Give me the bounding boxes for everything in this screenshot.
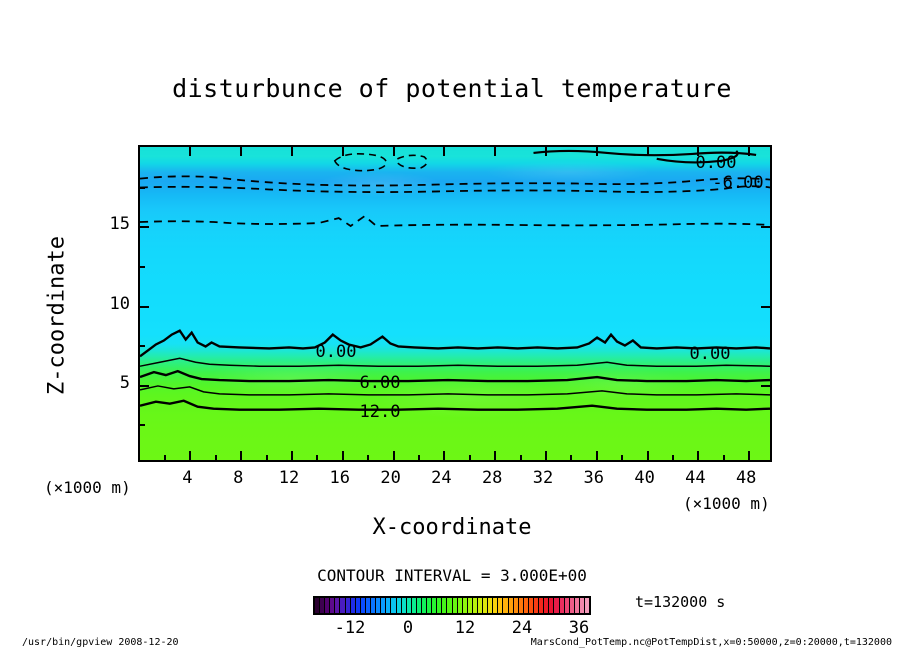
- ytick-minor-17-5: [140, 187, 145, 189]
- contour-solid-12: [140, 401, 770, 410]
- contour-solid-0: [140, 331, 770, 357]
- ytick-right-5: [761, 385, 770, 387]
- xtick-top-28: [494, 147, 496, 156]
- xtick-minor-10: [266, 455, 268, 460]
- time-annotation: t=132000 s: [635, 593, 725, 611]
- xtick-minor-30: [520, 455, 522, 460]
- ytick-minor-2-5: [140, 424, 145, 426]
- xtick-minor-42: [672, 455, 674, 460]
- xtick-label-20: 20: [380, 468, 400, 488]
- contour-label-neg6-top: -6.00: [712, 173, 763, 193]
- ytick-label-10: 10: [110, 294, 130, 314]
- xtick-top-36: [596, 147, 598, 156]
- ytick-minor-12-5: [140, 266, 145, 268]
- ytick-label-15: 15: [110, 214, 130, 234]
- colorbar-tick-24: 24: [512, 618, 532, 638]
- footer-dataset-info: MarsCond_PotTemp.nc@PotTempDist,x=0:5000…: [531, 637, 892, 648]
- xtick-24: [443, 451, 445, 460]
- contour-lines: [140, 147, 770, 460]
- contour-dashed-z15: [140, 216, 770, 226]
- xtick-minor-14: [316, 455, 318, 460]
- colorbar-tick-0: 0: [403, 618, 413, 638]
- ytick-15: [140, 226, 149, 228]
- ytick-5: [140, 385, 149, 387]
- xtick-label-40: 40: [634, 468, 654, 488]
- xtick-minor-18: [367, 455, 369, 460]
- xtick-minor-46: [723, 455, 725, 460]
- colorbar-segment: [585, 598, 589, 613]
- xtick-top-12: [291, 147, 293, 156]
- xtick-20: [393, 451, 395, 460]
- xtick-48: [748, 451, 750, 460]
- contour-label-12: 12.0: [360, 402, 401, 422]
- xtick-label-28: 28: [482, 468, 502, 488]
- xtick-top-16: [342, 147, 344, 156]
- contour-label-0-right: 0.00: [690, 344, 731, 364]
- y-axis-label: Z-coordinate: [45, 216, 70, 416]
- xtick-top-4: [189, 147, 191, 156]
- xtick-top-40: [647, 147, 649, 156]
- ytick-10: [140, 306, 149, 308]
- ytick-labels: 15 10 5: [88, 145, 130, 462]
- ytick-label-5: 5: [120, 373, 130, 393]
- xtick-8: [240, 451, 242, 460]
- xtick-top-32: [545, 147, 547, 156]
- xtick-top-24: [443, 147, 445, 156]
- xtick-label-24: 24: [431, 468, 451, 488]
- contour-label-0-left: 0.00: [316, 342, 357, 362]
- contour-solid-6: [140, 371, 770, 381]
- contour-dashed-cell-b: [397, 155, 427, 168]
- ytick-right-15: [761, 226, 770, 228]
- contour-label-6: 6.00: [360, 373, 401, 393]
- ytick-right-10: [761, 306, 770, 308]
- xtick-label-36: 36: [584, 468, 604, 488]
- xtick-16: [342, 451, 344, 460]
- xtick-minor-2: [164, 455, 166, 460]
- xtick-top-44: [697, 147, 699, 156]
- xtick-12: [291, 451, 293, 460]
- xtick-40: [647, 451, 649, 460]
- x-axis-unit: (×1000 m): [683, 494, 770, 513]
- contour-dashed-cell-a: [335, 154, 387, 171]
- colorbar-tick--12: -12: [335, 618, 366, 638]
- colorbar-tick-12: 12: [455, 618, 475, 638]
- xtick-label-12: 12: [279, 468, 299, 488]
- xtick-label-4: 4: [182, 468, 192, 488]
- xtick-32: [545, 451, 547, 460]
- xtick-label-16: 16: [330, 468, 350, 488]
- contour-dashed-upper-1: [140, 176, 770, 185]
- xtick-36: [596, 451, 598, 460]
- xtick-minor-34: [570, 455, 572, 460]
- contour-label-0-top: 0.00: [696, 153, 737, 173]
- x-axis-label: X-coordinate: [0, 515, 904, 540]
- ytick-minor-7-5: [140, 345, 145, 347]
- contour-interval-caption: CONTOUR INTERVAL = 3.000E+00: [0, 566, 904, 585]
- colorbar-tick-36: 36: [569, 618, 589, 638]
- xtick-4: [189, 451, 191, 460]
- contour-dashed-upper-2: [140, 186, 770, 192]
- y-axis-unit: (×1000 m): [44, 478, 131, 497]
- page-title: disturbunce of potential temperature: [0, 74, 904, 103]
- xtick-label-8: 8: [233, 468, 243, 488]
- colorbar: [313, 596, 591, 615]
- footer-command-info: /usr/bin/gpview 2008-12-20: [22, 637, 179, 648]
- xtick-44: [697, 451, 699, 460]
- contour-solid-3: [140, 358, 770, 366]
- xtick-minor-22: [418, 455, 420, 460]
- xtick-28: [494, 451, 496, 460]
- xtick-label-44: 44: [685, 468, 705, 488]
- xtick-minor-6: [215, 455, 217, 460]
- contour-solid-9: [140, 386, 770, 395]
- contour-plot-area: 0.00 6.00 12.0 0.00 0.00 -6.00: [138, 145, 772, 462]
- xtick-top-8: [240, 147, 242, 156]
- xtick-label-48: 48: [736, 468, 756, 488]
- xtick-minor-38: [621, 455, 623, 460]
- xtick-top-20: [393, 147, 395, 156]
- xtick-minor-26: [469, 455, 471, 460]
- xtick-label-32: 32: [533, 468, 553, 488]
- xtick-top-48: [748, 147, 750, 156]
